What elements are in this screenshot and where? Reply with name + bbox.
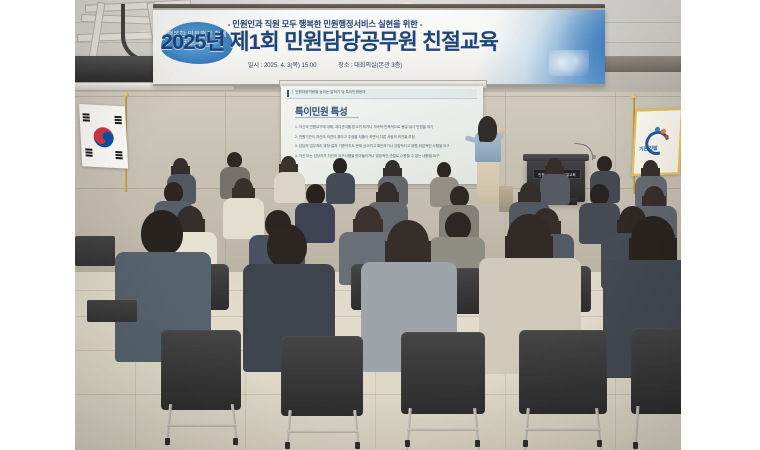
chair bbox=[87, 300, 137, 322]
slide-header-text: │ 민원대응역량을 높이는 말하기 및 특이민원응대 bbox=[292, 90, 365, 95]
taeguk-circle bbox=[93, 127, 114, 148]
slide-bullet: 2. 민원기관이 자신의 의견이 옳다고 주장을 되풀이 하면서 다른 사람의 … bbox=[295, 134, 473, 142]
slide-bullet: 3. 담당자 업무처리 과정·절차·기준까지도 문제 삼으려고 확인하거나 강압… bbox=[295, 143, 473, 151]
projection-screen: │ 민원대응역량을 높이는 말하기 및 특이민원응대 특이민원 특성 1. 자신… bbox=[281, 86, 483, 184]
presenter-hair bbox=[478, 116, 497, 142]
banner-meta: 일시 : 2025. 4. 3(목) 15:00 장소 : 대회의실(본관 3층… bbox=[175, 60, 475, 69]
chair bbox=[161, 330, 241, 410]
slide-title: 특이민원 특성 bbox=[295, 104, 347, 118]
taegukgi-cloth bbox=[79, 104, 128, 169]
chair bbox=[519, 330, 607, 414]
banner-place: 장소 : 대회의실(본관 3층) bbox=[338, 62, 402, 69]
slide-header: │ 민원대응역량을 높이는 말하기 및 특이민원응대 bbox=[287, 89, 477, 99]
city-flag-label: 기관 깃발 bbox=[639, 145, 657, 153]
banner-title: 2025년 제1회 민원담당공무원 친절교육 bbox=[161, 30, 491, 55]
banner-subtitle: - 민원인과 직원 모두 행복한 민원행정서비스 실현을 위한 - bbox=[175, 18, 475, 30]
slide-bullet-list: 1. 자신의 민원요구에 대해, 과다관여를 받으려 하거나 지속적·반복적으로… bbox=[295, 124, 473, 163]
event-photograph: 행복한 민원행정 함께하는 동행 - 민원인과 직원 모두 행복한 민원행정서비… bbox=[75, 0, 681, 450]
microphone bbox=[573, 144, 595, 160]
slide-bullet: 1. 자신의 민원요구에 대해, 과다관여를 받으려 하거나 지속적·반복적으로… bbox=[295, 124, 473, 132]
slide-title-rule bbox=[295, 117, 359, 118]
screenshot-root: 행복한 민원행정 함께하는 동행 - 민원인과 직원 모두 행복한 민원행정서비… bbox=[0, 0, 760, 450]
event-banner: 행복한 민원행정 함께하는 동행 - 민원인과 직원 모두 행복한 민원행정서비… bbox=[153, 8, 605, 86]
chair bbox=[631, 328, 681, 414]
flag-taegukgi bbox=[75, 96, 143, 192]
chair bbox=[401, 332, 485, 414]
chair bbox=[75, 236, 115, 266]
chair bbox=[281, 336, 363, 416]
slide-bullet: 4. 자신 또는 담당자가 자신의 요구사항을 받아들이거나 일방적인 관철로 … bbox=[295, 153, 473, 161]
banner-date: 일시 : 2025. 4. 3(목) 15:00 bbox=[248, 62, 317, 69]
projector-cable bbox=[121, 4, 155, 62]
